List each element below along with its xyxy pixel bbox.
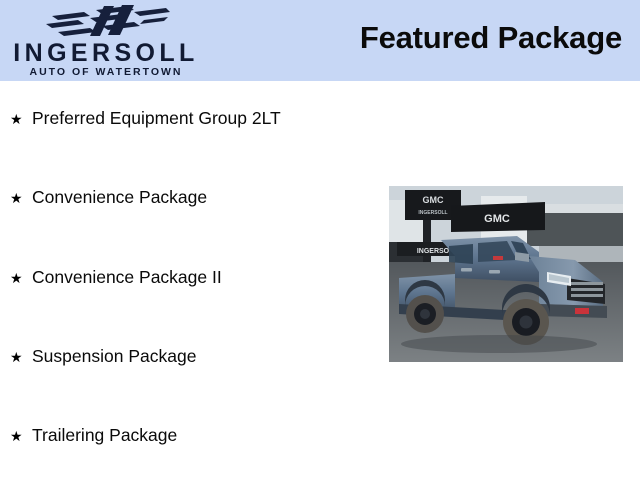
dealer-tagline: AUTO OF WATERTOWN xyxy=(6,67,206,78)
list-item: ★ Convenience Package II xyxy=(10,269,222,287)
svg-text:INGERSO: INGERSO xyxy=(417,248,450,255)
svg-text:INGERSOLL: INGERSOLL xyxy=(418,210,447,216)
list-item: ★ Preferred Equipment Group 2LT xyxy=(10,110,281,128)
feature-label: Preferred Equipment Group 2LT xyxy=(32,110,281,128)
dealer-name: INGERSOLL xyxy=(6,41,206,66)
star-bullet-icon: ★ xyxy=(10,350,32,364)
wing-flag-emblem-icon xyxy=(44,4,170,38)
feature-label: Convenience Package II xyxy=(32,269,222,287)
star-bullet-icon: ★ xyxy=(10,191,32,205)
star-bullet-icon: ★ xyxy=(10,429,32,443)
dealer-logo: INGERSOLL AUTO OF WATERTOWN xyxy=(0,0,210,81)
svg-text:GMC: GMC xyxy=(423,195,444,205)
feature-label: Convenience Package xyxy=(32,189,207,207)
list-item: ★ Convenience Package xyxy=(10,189,207,207)
list-item: ★ Trailering Package xyxy=(10,427,177,445)
feature-label: Suspension Package xyxy=(32,348,196,366)
page-header: INGERSOLL AUTO OF WATERTOWN Featured Pac… xyxy=(0,0,640,81)
page-title: Featured Package xyxy=(360,19,622,56)
star-bullet-icon: ★ xyxy=(10,112,32,126)
feature-label: Trailering Package xyxy=(32,427,177,445)
vehicle-photo: GMC INGERSOLL GMC INGERSO xyxy=(389,186,623,362)
svg-text:GMC: GMC xyxy=(484,213,510,225)
star-bullet-icon: ★ xyxy=(10,271,32,285)
list-item: ★ Suspension Package xyxy=(10,348,196,366)
